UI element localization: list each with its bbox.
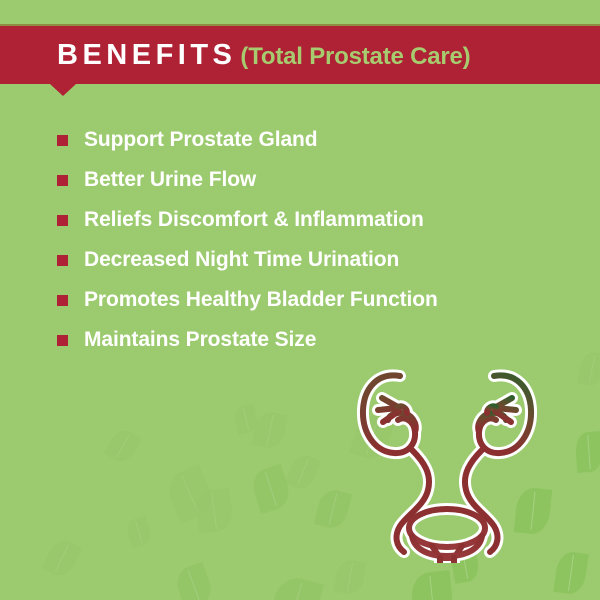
leaf-icon [314, 487, 352, 531]
leaf-icon [125, 516, 154, 549]
list-item: Reliefs Discomfort & Inflammation [57, 200, 438, 240]
bullet-square-icon [57, 295, 68, 306]
bullet-square-icon [57, 135, 68, 146]
leaf-icon [410, 570, 455, 600]
leaf-icon [553, 550, 589, 596]
leaf-icon [104, 426, 143, 467]
benefit-label: Decreased Night Time Urination [84, 248, 399, 272]
benefit-label: Promotes Healthy Bladder Function [84, 288, 438, 312]
leaf-icon [577, 350, 600, 388]
bullet-square-icon [57, 175, 68, 186]
leaf-icon [232, 403, 260, 435]
list-item: Promotes Healthy Bladder Function [57, 280, 438, 320]
bullet-square-icon [57, 335, 68, 346]
benefit-label: Support Prostate Gland [84, 128, 318, 152]
title-subtitle: (Total Prostate Care) [240, 43, 470, 71]
leaf-icon [575, 431, 600, 473]
bullet-square-icon [57, 255, 68, 266]
leaf-icon [193, 488, 234, 535]
benefit-label: Reliefs Discomfort & Inflammation [84, 208, 424, 232]
list-item: Better Urine Flow [57, 160, 438, 200]
header-banner: BENEFITS (Total Prostate Care) [0, 26, 600, 84]
leaf-icon [333, 558, 366, 596]
leaf-icon [248, 464, 293, 514]
list-item: Maintains Prostate Size [57, 320, 438, 360]
banner-notch [50, 84, 76, 96]
page-title: BENEFITS (Total Prostate Care) [0, 39, 470, 72]
benefit-label: Maintains Prostate Size [84, 328, 316, 352]
benefits-list: Support Prostate Gland Better Urine Flow… [57, 120, 438, 360]
list-item: Decreased Night Time Urination [57, 240, 438, 280]
leaf-icon [252, 409, 289, 450]
leaf-icon [162, 464, 218, 524]
bullet-square-icon [57, 215, 68, 226]
leaf-icon [172, 562, 216, 600]
leaf-icon [42, 536, 83, 581]
benefits-poster: BENEFITS (Total Prostate Care) Support P… [0, 0, 600, 600]
list-item: Support Prostate Gland [57, 120, 438, 160]
title-main: BENEFITS [57, 39, 236, 72]
urinary-system-illustration [352, 358, 542, 563]
benefit-label: Better Urine Flow [84, 168, 256, 192]
leaf-icon [268, 573, 324, 600]
leaf-icon [285, 451, 322, 492]
